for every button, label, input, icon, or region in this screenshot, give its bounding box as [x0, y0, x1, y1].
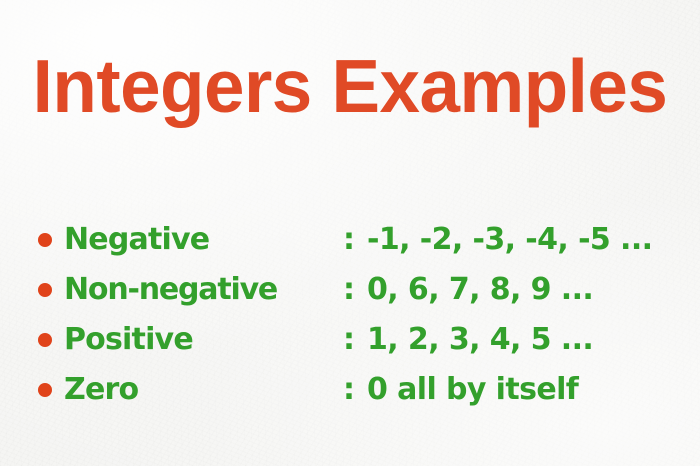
integer-type-list: Negative : -1, -2, -3, -4, -5 ... Non-ne… — [0, 215, 700, 415]
list-item: Zero : 0 all by itself — [0, 365, 700, 415]
list-item: Non-negative : 0, 6, 7, 8, 9 ... — [0, 265, 700, 315]
list-item-label: Negative — [64, 223, 209, 257]
list-item-value: 0, 6, 7, 8, 9 ... — [367, 273, 593, 307]
list-item-separator: : — [343, 373, 355, 407]
list-item-label: Zero — [64, 373, 138, 407]
list-item-label: Non-negative — [64, 273, 277, 307]
list-item-value: 0 all by itself — [367, 373, 578, 407]
bullet-dot-icon — [38, 383, 52, 397]
slide-canvas: Integers Examples Negative : -1, -2, -3,… — [0, 0, 700, 466]
list-item: Positive : 1, 2, 3, 4, 5 ... — [0, 315, 700, 365]
list-item-separator: : — [343, 223, 355, 257]
slide-content: Integers Examples Negative : -1, -2, -3,… — [0, 0, 700, 466]
list-item-separator: : — [343, 273, 355, 307]
bullet-dot-icon — [38, 333, 52, 347]
list-item-label: Positive — [64, 323, 193, 357]
list-item-value: -1, -2, -3, -4, -5 ... — [367, 223, 652, 257]
list-item: Negative : -1, -2, -3, -4, -5 ... — [0, 215, 700, 265]
bullet-dot-icon — [38, 233, 52, 247]
list-item-value: 1, 2, 3, 4, 5 ... — [367, 323, 593, 357]
bullet-dot-icon — [38, 283, 52, 297]
slide-title: Integers Examples — [11, 47, 690, 125]
list-item-separator: : — [343, 323, 355, 357]
